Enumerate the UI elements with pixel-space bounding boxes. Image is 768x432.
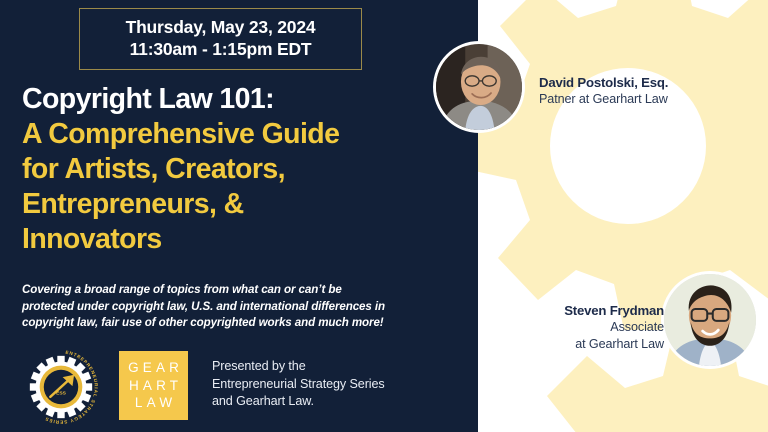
headshot-david-postolski-image bbox=[436, 44, 522, 130]
gearhart-law-logo: GEAR HART LAW bbox=[119, 351, 188, 420]
title-line-2: A Comprehensive Guide bbox=[22, 117, 452, 152]
speaker-1-name: David Postolski, Esq. bbox=[539, 74, 668, 91]
footer: ESS ENTREPRENEURIAL STRATEGY SERIES GEAR… bbox=[20, 346, 385, 428]
webinar-promo-poster: Thursday, May 23, 2024 11:30am - 1:15pm … bbox=[0, 0, 768, 432]
speaker-2-role-line-2: at Gearhart Law bbox=[496, 336, 664, 353]
title-line-1: Copyright Law 101: bbox=[22, 82, 452, 117]
speaker-1-role: Patner at Gearhart Law bbox=[539, 91, 668, 108]
presented-by-line-3: and Gearhart Law. bbox=[212, 393, 385, 411]
headshot-steven-frydman-image bbox=[664, 274, 756, 366]
description-line-3: copyright law, fair use of other copyrig… bbox=[22, 315, 447, 332]
presented-by-line-2: Entrepreneurial Strategy Series bbox=[212, 376, 385, 394]
page-title: Copyright Law 101: A Comprehensive Guide… bbox=[22, 82, 452, 257]
title-line-5: Innovators bbox=[22, 222, 452, 257]
presented-by-text: Presented by the Entrepreneurial Strateg… bbox=[212, 358, 385, 411]
avatar-david-postolski bbox=[433, 41, 525, 133]
gearhart-logo-line-3: LAW bbox=[131, 394, 177, 412]
description-line-2: protected under copyright law, U.S. and … bbox=[22, 299, 447, 316]
gearhart-logo-line-2: HART bbox=[125, 377, 183, 395]
ess-center-text: ESS bbox=[56, 390, 67, 396]
description-text: Covering a broad range of topics from wh… bbox=[22, 282, 447, 332]
avatar-steven-frydman bbox=[661, 271, 759, 369]
date-banner-line-2: 11:30am - 1:15pm EDT bbox=[80, 38, 361, 60]
date-banner: Thursday, May 23, 2024 11:30am - 1:15pm … bbox=[79, 8, 362, 70]
title-line-3: for Artists, Creators, bbox=[22, 152, 452, 187]
gearhart-logo-line-1: GEAR bbox=[124, 359, 183, 377]
gear-background-graphic bbox=[478, 0, 768, 432]
speaker-2-info: Steven Frydman Associate at Gearhart Law bbox=[496, 302, 664, 352]
speaker-1-info: David Postolski, Esq. Patner at Gearhart… bbox=[539, 74, 668, 108]
description-line-1: Covering a broad range of topics from wh… bbox=[22, 282, 447, 299]
date-banner-line-1: Thursday, May 23, 2024 bbox=[80, 16, 361, 38]
gear-arrow-badge-icon: ESS ENTREPRENEURIAL STRATEGY SERIES bbox=[20, 346, 102, 428]
speaker-2-role-line-1: Associate bbox=[496, 319, 664, 336]
title-line-4: Entrepreneurs, & bbox=[22, 187, 452, 222]
speaker-2-name: Steven Frydman bbox=[496, 302, 664, 319]
presented-by-line-1: Presented by the bbox=[212, 358, 385, 376]
right-panel bbox=[478, 0, 768, 432]
